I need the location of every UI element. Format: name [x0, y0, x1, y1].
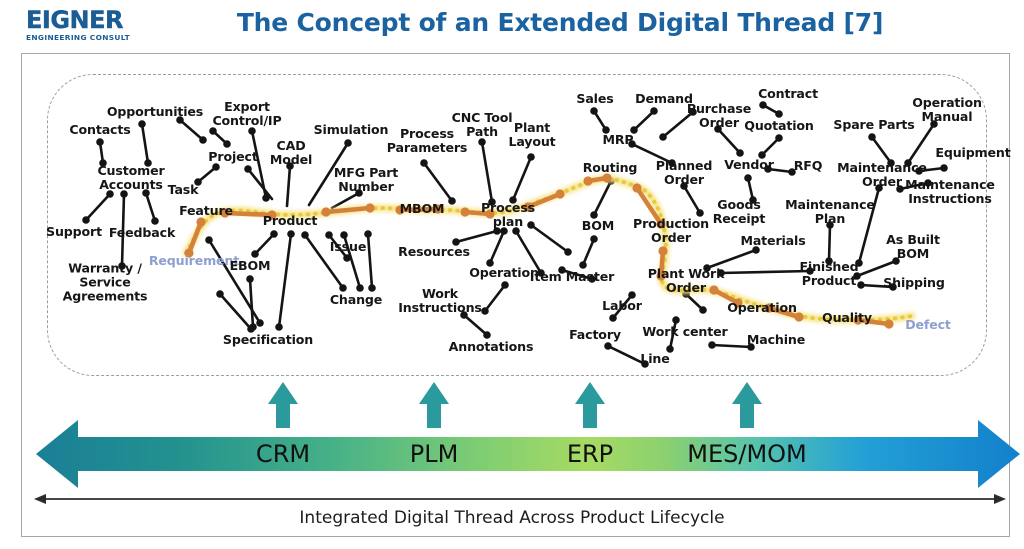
- graph-node-cnc-tool-path[interactable]: CNC Tool Path: [452, 111, 513, 139]
- lifecycle-caption: Integrated Digital Thread Across Product…: [0, 508, 1024, 528]
- graph-node-production-order[interactable]: Production Order: [633, 217, 709, 245]
- graph-node-labor[interactable]: Labor: [602, 299, 642, 313]
- lifecycle-band-plm[interactable]: PLM: [410, 440, 459, 468]
- graph-node-cad-model[interactable]: CAD Model: [270, 139, 312, 167]
- graph-node-bom[interactable]: BOM: [582, 219, 614, 233]
- graph-node-requirement[interactable]: Requirement: [149, 254, 239, 268]
- graph-node-ebom[interactable]: EBOM: [230, 259, 271, 273]
- graph-node-factory[interactable]: Factory: [569, 328, 621, 342]
- graph-node-product[interactable]: Product: [263, 214, 318, 228]
- lifecycle-band-mes-mom[interactable]: MES/MOM: [687, 440, 807, 468]
- graph-node-work-instructions[interactable]: Work Instructions: [398, 287, 481, 315]
- lifecycle-span-line: [34, 494, 1006, 504]
- graph-node-feedback[interactable]: Feedback: [109, 226, 175, 240]
- graph-node-goods-receipt[interactable]: Goods Receipt: [713, 198, 766, 226]
- graph-node-finished-product[interactable]: Finished Product: [799, 260, 858, 288]
- graph-node-equipment[interactable]: Equipment: [935, 146, 1010, 160]
- graph-node-mbom[interactable]: MBOM: [400, 202, 445, 216]
- graph-node-issue[interactable]: Issue: [330, 240, 366, 254]
- graph-node-defect[interactable]: Defect: [905, 318, 951, 332]
- graph-node-support[interactable]: Support: [46, 225, 102, 239]
- graph-node-shipping[interactable]: Shipping: [883, 276, 944, 290]
- graph-node-feature[interactable]: Feature: [179, 204, 233, 218]
- graph-node-contract[interactable]: Contract: [758, 87, 818, 101]
- graph-node-task[interactable]: Task: [168, 183, 199, 197]
- graph-node-process-plan[interactable]: Process plan: [481, 201, 535, 229]
- graph-node-plant-work-order[interactable]: Plant Work Order: [648, 267, 725, 295]
- graph-node-item-master[interactable]: Item Master: [530, 270, 614, 284]
- graph-node-quality[interactable]: Quality: [822, 311, 872, 325]
- graph-node-operation-manual[interactable]: Operation Manual: [912, 96, 982, 124]
- graph-node-operation-mes[interactable]: Operation: [727, 301, 797, 315]
- graph-node-change[interactable]: Change: [330, 293, 382, 307]
- graph-node-spare-parts[interactable]: Spare Parts: [833, 118, 914, 132]
- graph-node-maintenance-plan[interactable]: Maintenance Plan: [785, 198, 875, 226]
- graph-node-demand[interactable]: Demand: [635, 92, 693, 106]
- graph-node-export-control[interactable]: Export Control/IP: [212, 100, 281, 128]
- graph-node-contacts[interactable]: Contacts: [69, 123, 130, 137]
- graph-node-line[interactable]: Line: [640, 352, 669, 366]
- graph-node-plant-layout[interactable]: Plant Layout: [508, 121, 555, 149]
- graph-node-planned-order[interactable]: Planned Order: [656, 159, 712, 187]
- lifecycle-band-crm[interactable]: CRM: [256, 440, 310, 468]
- graph-node-operation-plm[interactable]: Operation: [469, 266, 539, 280]
- graph-node-warranty-service[interactable]: Warranty / Service Agreements: [63, 262, 148, 305]
- graph-node-maintenance-instructions[interactable]: Maintenance Instructions: [905, 178, 995, 206]
- graph-node-mfg-part-number[interactable]: MFG Part Number: [334, 166, 398, 194]
- graph-node-purchase-order[interactable]: Purchase Order: [687, 102, 751, 130]
- graph-node-quotation[interactable]: Quotation: [744, 119, 813, 133]
- graph-node-specification[interactable]: Specification: [223, 333, 313, 347]
- graph-node-customer-accounts[interactable]: Customer Accounts: [97, 164, 164, 192]
- graph-node-opportunities[interactable]: Opportunities: [107, 105, 203, 119]
- graph-node-routing[interactable]: Routing: [583, 161, 638, 175]
- graph-node-as-built-bom[interactable]: As Built BOM: [886, 233, 940, 261]
- graph-node-sales[interactable]: Sales: [576, 92, 613, 106]
- graph-node-mrp[interactable]: MRP: [602, 133, 633, 147]
- knowledge-graph: ContactsOpportunitiesCustomer AccountsSu…: [0, 0, 1024, 400]
- graph-node-simulation[interactable]: Simulation: [314, 123, 389, 137]
- slide-root: EIGNER ENGINEERING CONSULT The Concept o…: [0, 0, 1024, 544]
- graph-node-annotations[interactable]: Annotations: [449, 340, 534, 354]
- graph-node-project[interactable]: Project: [208, 150, 257, 164]
- graph-node-work-center[interactable]: Work center: [642, 325, 727, 339]
- graph-node-machine[interactable]: Machine: [747, 333, 805, 347]
- graph-node-resources[interactable]: Resources: [398, 245, 470, 259]
- lifecycle-bar: [36, 420, 1020, 488]
- graph-node-rfq[interactable]: RFQ: [794, 159, 823, 173]
- graph-node-vendor[interactable]: Vendor: [724, 158, 774, 172]
- lifecycle-band-erp[interactable]: ERP: [567, 440, 613, 468]
- band-marker-arrows: [268, 382, 762, 428]
- graph-node-materials[interactable]: Materials: [740, 234, 805, 248]
